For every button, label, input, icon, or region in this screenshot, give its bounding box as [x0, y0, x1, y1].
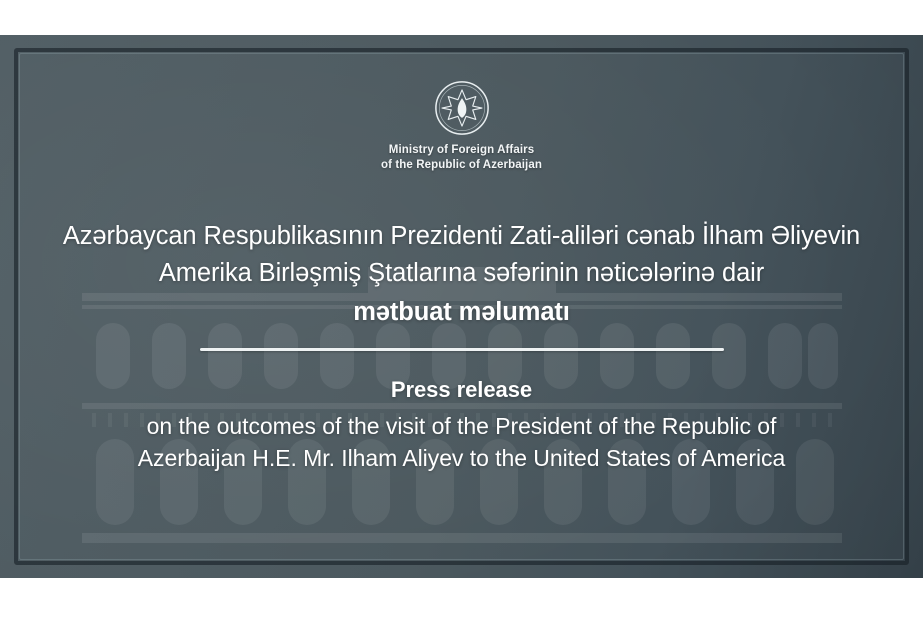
english-title: Press release on the outcomes of the vis… — [138, 374, 785, 475]
press-release-banner: Ministry of Foreign Affairs of the Repub… — [0, 35, 923, 578]
azerbaijani-title-line2: Amerika Birləşmiş Ştatlarına səfərinin n… — [63, 255, 860, 292]
azerbaijan-mfa-emblem-icon — [433, 79, 491, 137]
page-canvas: Ministry of Foreign Affairs of the Repub… — [0, 0, 923, 630]
title-divider — [200, 348, 724, 351]
banner-content: Ministry of Foreign Affairs of the Repub… — [0, 35, 923, 578]
english-heading: Press release — [138, 374, 785, 405]
azerbaijani-title: Azərbaycan Respublikasının Prezidenti Za… — [63, 218, 860, 332]
ministry-name: Ministry of Foreign Affairs of the Repub… — [381, 143, 542, 174]
english-title-line1: on the outcomes of the visit of the Pres… — [138, 410, 785, 443]
azerbaijani-title-line3: mətbuat məlumatı — [63, 294, 860, 331]
english-title-line2: Azerbaijan H.E. Mr. Ilham Aliyev to the … — [138, 442, 785, 475]
ministry-name-line2: of the Republic of Azerbaijan — [381, 158, 542, 173]
azerbaijani-title-line1: Azərbaycan Respublikasının Prezidenti Za… — [63, 218, 860, 255]
ministry-name-line1: Ministry of Foreign Affairs — [381, 143, 542, 158]
